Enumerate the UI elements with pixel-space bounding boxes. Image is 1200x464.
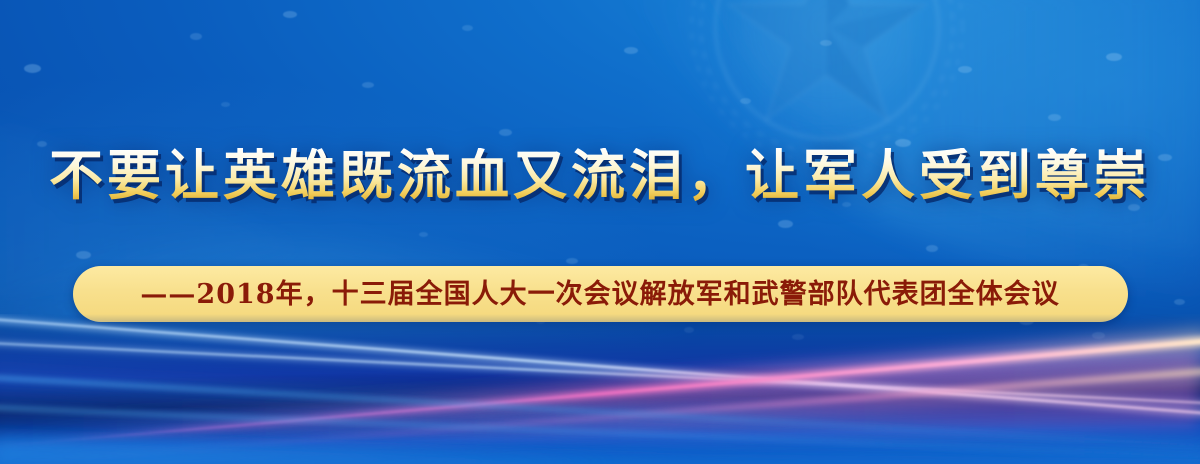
light-streak-band: [0, 314, 1200, 464]
subtitle-text: ——2018年，十三届全国人大一次会议解放军和武警部队代表团全体会议: [140, 281, 1059, 308]
page-title: 不要让英雄既流血又流泪，让军人受到尊崇: [0, 148, 1200, 202]
promotional-banner: 不要让英雄既流血又流泪，让军人受到尊崇 ——2018年，十三届全国人大一次会议解…: [0, 0, 1200, 464]
